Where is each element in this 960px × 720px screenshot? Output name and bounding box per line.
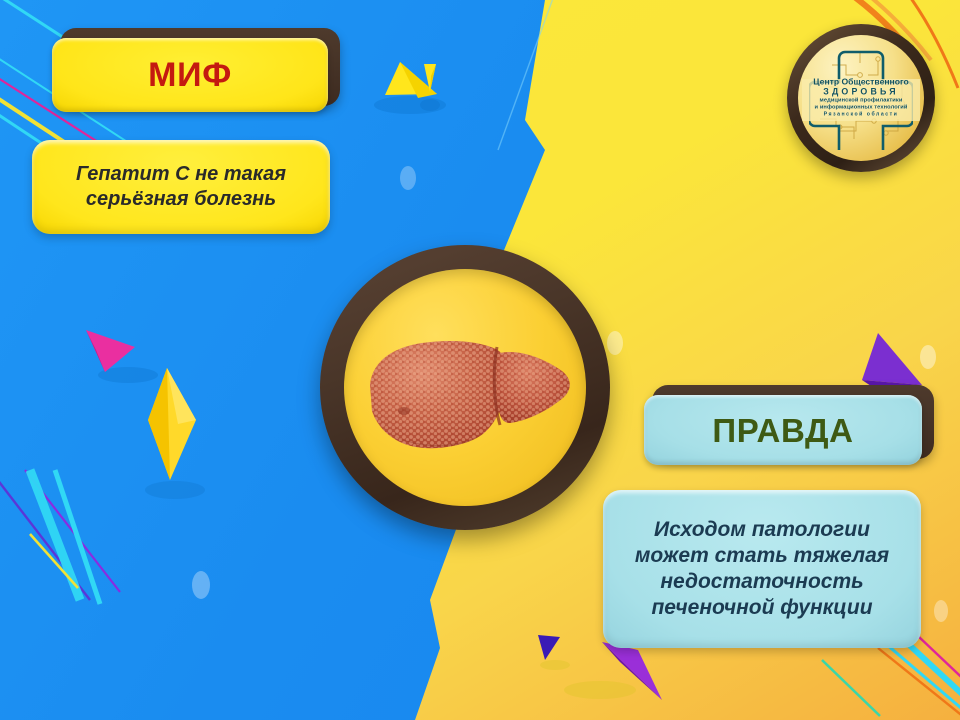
- white-ellipse: [400, 166, 416, 190]
- truth-caption-text: Исходом патологии может стать тяжелая не…: [635, 517, 889, 621]
- indigo-triangle-small: [538, 635, 560, 660]
- emblem-line-2: ЗДОРОВЬЯ: [802, 86, 920, 97]
- medallion-inner-disc: [344, 269, 586, 506]
- truth-plaque-face: ПРАВДА: [644, 395, 922, 465]
- emblem-text: Центр Общественного ЗДОРОВЬЯ медицинской…: [802, 77, 920, 118]
- emblem-line-1: Центр Общественного: [802, 77, 920, 86]
- emblem-disc: Центр Общественного ЗДОРОВЬЯ медицинской…: [798, 35, 924, 161]
- truth-caption-line-1: Исходом патологии: [654, 518, 870, 541]
- myth-plaque-face: МИФ: [52, 38, 328, 112]
- truth-caption-line-2: может стать тяжелая: [635, 544, 889, 567]
- organization-emblem: Центр Общественного ЗДОРОВЬЯ медицинской…: [787, 24, 935, 172]
- myth-caption-line-2: серьёзная болезнь: [86, 188, 276, 210]
- white-ellipse: [607, 331, 623, 355]
- truth-title-label: ПРАВДА: [712, 414, 853, 447]
- myth-title-plaque: МИФ: [60, 28, 340, 106]
- magenta-triangle: [86, 330, 135, 372]
- white-ellipse: [192, 571, 210, 599]
- truth-title-plaque: ПРАВДА: [652, 385, 934, 459]
- truth-caption-bubble: Исходом патологии может стать тяжелая не…: [603, 490, 921, 648]
- infographic-slide: МИФ Гепатит С не такая серьёзная болезнь…: [0, 0, 960, 720]
- cirrhotic-liver-icon: [360, 327, 578, 459]
- emblem-line-4: Рязанской области: [802, 112, 920, 119]
- liver-medallion: [320, 245, 610, 530]
- truth-caption-line-4: печеночной функции: [651, 596, 872, 619]
- truth-caption-line-3: недостаточность: [660, 570, 863, 593]
- myth-caption-text: Гепатит С не такая серьёзная болезнь: [76, 162, 286, 212]
- myth-caption-bubble: Гепатит С не такая серьёзная болезнь: [32, 140, 330, 234]
- myth-title-label: МИФ: [148, 58, 232, 92]
- white-ellipse: [934, 600, 948, 622]
- myth-caption-line-1: Гепатит С не такая: [76, 163, 286, 185]
- purple-triangle-right: [862, 333, 922, 385]
- white-ellipse: [920, 345, 936, 369]
